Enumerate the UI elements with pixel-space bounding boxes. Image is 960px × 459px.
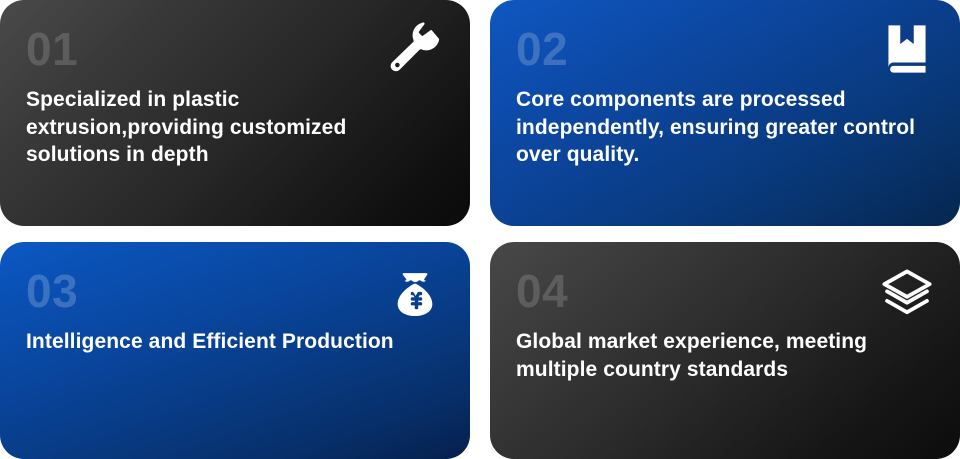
feature-card-04[interactable]: 04 Global market experience, meeting mul… xyxy=(490,242,960,459)
card-number-02: 02 xyxy=(516,26,932,72)
card-text-04: Global market experience, meeting multip… xyxy=(516,328,932,383)
card-text-02: Core components are processed independen… xyxy=(516,86,932,169)
card-number-01: 01 xyxy=(26,26,442,72)
feature-card-02[interactable]: 02 Core components are processed indepen… xyxy=(490,0,960,226)
card-number-03: 03 xyxy=(26,268,442,314)
feature-card-03[interactable]: 03 Intelligence and Efficient Production xyxy=(0,242,470,459)
feature-card-grid: 01 Specialized in plastic extrusion,prov… xyxy=(0,0,960,459)
card-text-01: Specialized in plastic extrusion,providi… xyxy=(26,86,442,169)
feature-card-01[interactable]: 01 Specialized in plastic extrusion,prov… xyxy=(0,0,470,226)
card-number-04: 04 xyxy=(516,268,932,314)
card-text-03: Intelligence and Efficient Production xyxy=(26,328,442,356)
